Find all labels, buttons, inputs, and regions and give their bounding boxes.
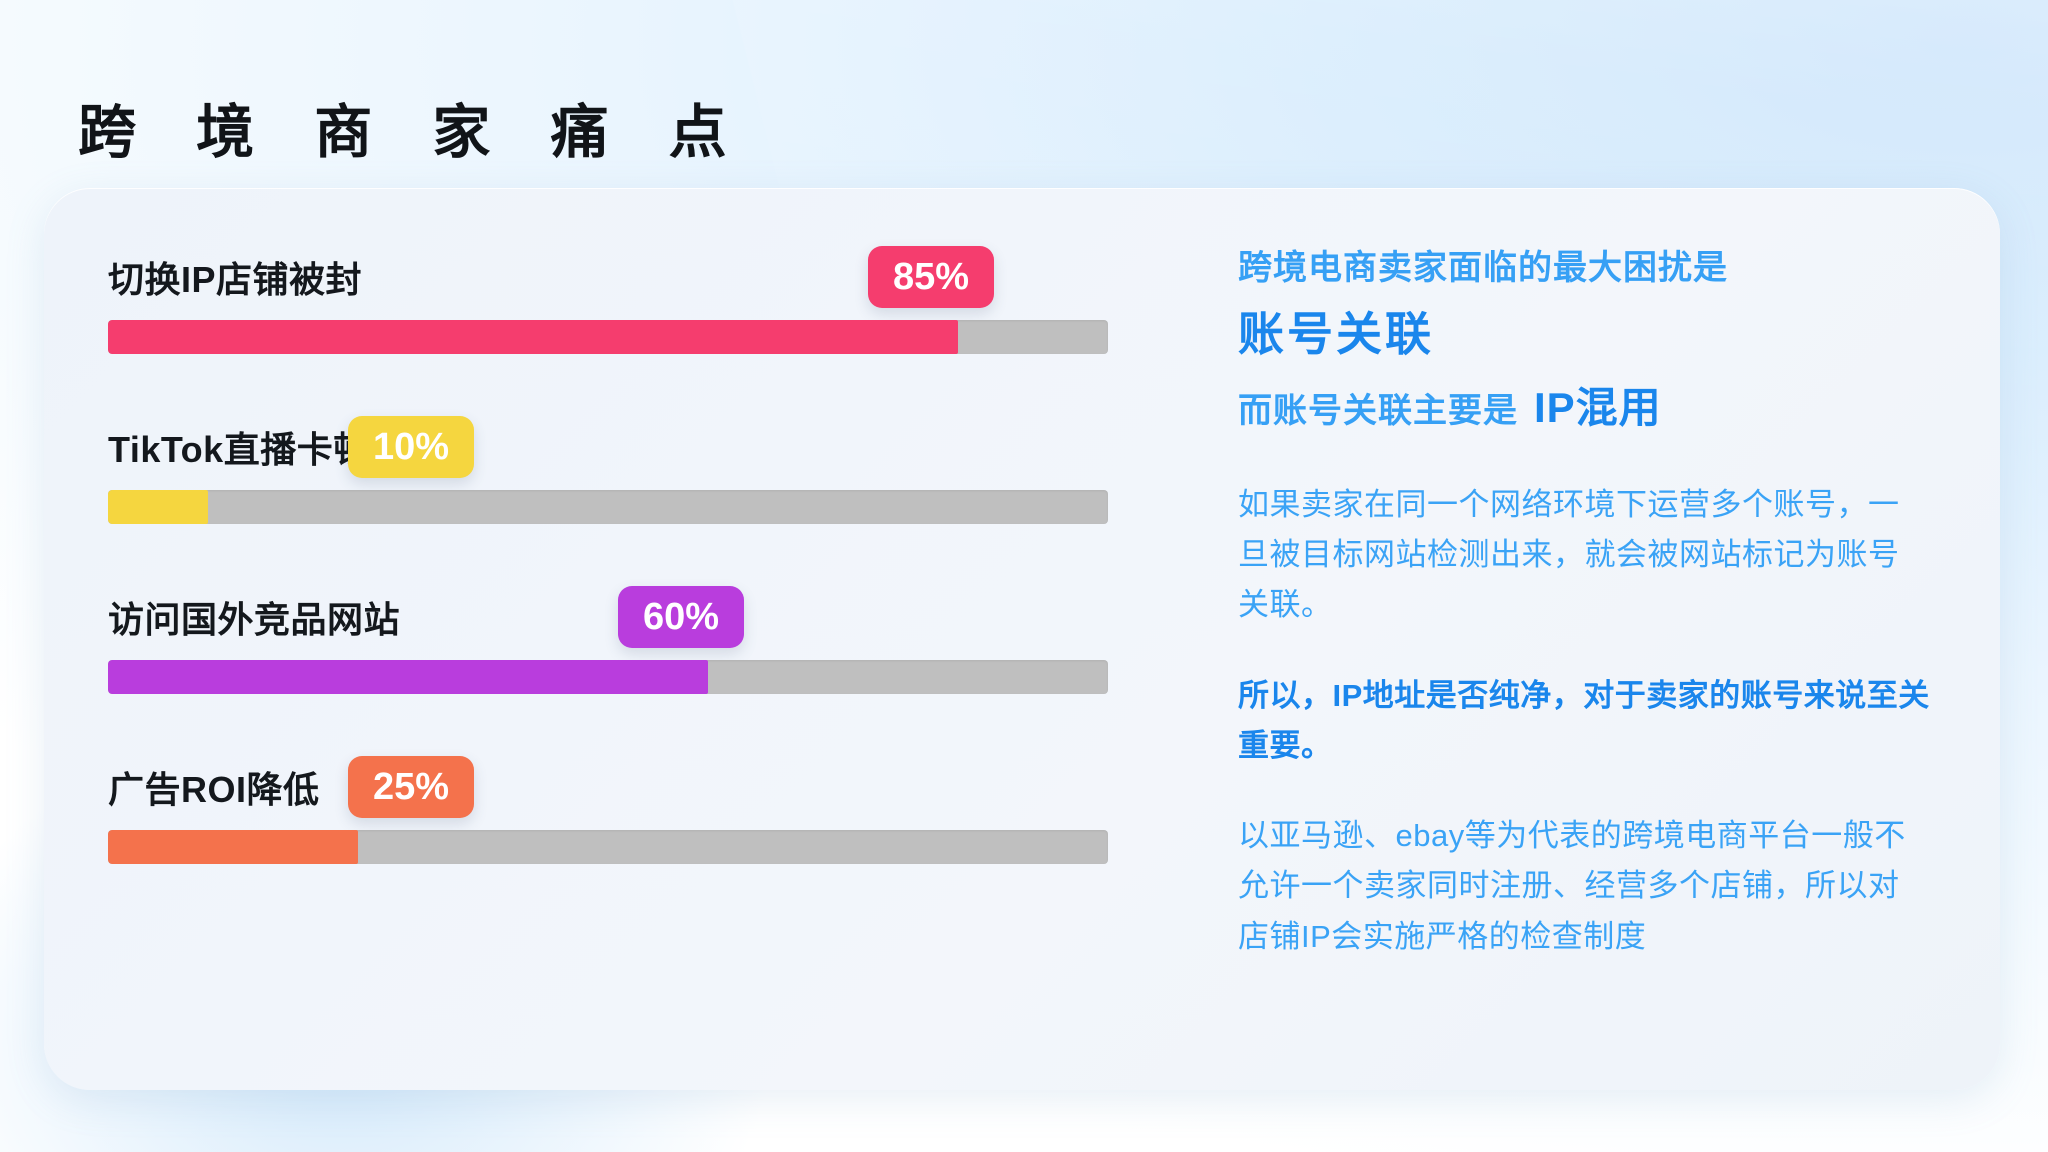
bar-track	[108, 490, 1108, 524]
bar-head: 切换IP店铺被封 85%	[108, 224, 1128, 298]
explanation-panel: 跨境电商卖家面临的最大困扰是 账号关联 而账号关联主要是 IP混用 如果卖家在同…	[1194, 188, 2000, 1090]
sub-heading: 而账号关联主要是 IP混用	[1238, 381, 1930, 436]
sub-heading-highlight: IP混用	[1534, 381, 1662, 436]
bar-head: TikTok直播卡顿 10%	[108, 394, 1128, 468]
bar-track	[108, 830, 1108, 864]
bar-value-badge: 85%	[868, 246, 994, 308]
bar-label: 切换IP店铺被封	[108, 262, 362, 298]
bar-value-badge: 25%	[348, 756, 474, 818]
paragraph-one: 如果卖家在同一个网络环境下运营多个账号，一旦被目标网站检测出来，就会被网站标记为…	[1238, 480, 1930, 631]
bar-track	[108, 320, 1108, 354]
paragraph-two: 所以，IP地址是否纯净，对于卖家的账号来说至关重要。	[1238, 671, 1930, 771]
bar-value-badge: 60%	[618, 586, 744, 648]
sub-heading-prefix: 而账号关联主要是	[1238, 389, 1518, 433]
bar-head: 广告ROI降低 25%	[108, 734, 1128, 808]
bar-fill	[108, 660, 708, 694]
bar-label: 访问国外竞品网站	[108, 602, 400, 638]
paragraph-three: 以亚马逊、ebay等为代表的跨境电商平台一般不允许一个卖家同时注册、经营多个店铺…	[1238, 811, 1930, 962]
content-card: 切换IP店铺被封 85% TikTok直播卡顿 10%	[44, 188, 2000, 1090]
bar-fill	[108, 490, 208, 524]
bar-head: 访问国外竞品网站 60%	[108, 564, 1128, 638]
bar-row: 访问国外竞品网站 60%	[108, 564, 1128, 694]
page-title: 跨 境 商 家 痛 点	[78, 101, 749, 165]
bar-fill	[108, 830, 358, 864]
keyword-heading: 账号关联	[1238, 306, 1930, 364]
bar-row: 切换IP店铺被封 85%	[108, 224, 1128, 354]
lead-text: 跨境电商卖家面临的最大困扰是	[1238, 246, 1930, 292]
bar-label: TikTok直播卡顿	[108, 432, 370, 468]
bar-label: 广告ROI降低	[108, 772, 320, 808]
slide-canvas: 跨 境 商 家 痛 点 切换IP店铺被封 85% TikTok直播卡顿	[0, 0, 2048, 1152]
bar-track	[108, 660, 1108, 694]
bar-fill	[108, 320, 958, 354]
card-inner: 切换IP店铺被封 85% TikTok直播卡顿 10%	[44, 188, 2000, 1090]
bar-value-badge: 10%	[348, 416, 474, 478]
bar-row: 广告ROI降低 25%	[108, 734, 1128, 864]
bar-row: TikTok直播卡顿 10%	[108, 394, 1128, 524]
pain-point-bar-chart: 切换IP店铺被封 85% TikTok直播卡顿 10%	[44, 188, 1194, 1090]
